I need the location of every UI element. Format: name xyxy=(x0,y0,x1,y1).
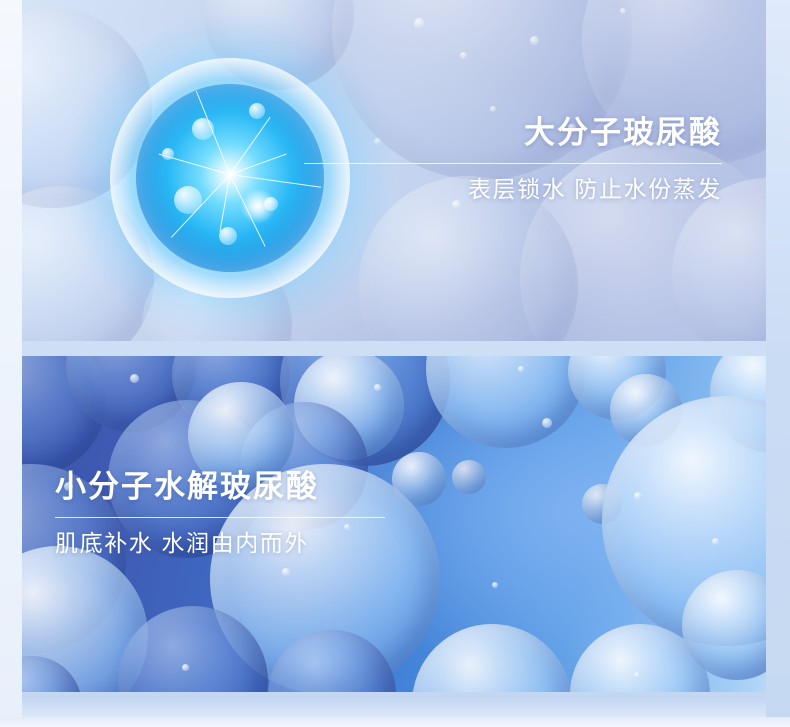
micro-bubble xyxy=(542,418,552,428)
micro-bubble xyxy=(282,568,290,576)
macro-divider xyxy=(304,163,722,164)
bottom-margin-strip xyxy=(0,717,790,727)
bubble-decoration xyxy=(452,460,486,494)
bubble-decoration xyxy=(412,624,572,692)
micro-bubble xyxy=(620,8,626,14)
micro-bubble xyxy=(490,106,496,112)
micro-divider xyxy=(55,517,385,518)
micro-subheading: 肌底补水 水润由内而外 xyxy=(55,530,385,556)
bubble-decoration xyxy=(426,356,586,448)
micro-text-block: 小分子水解玻尿酸 肌底补水 水润由内而外 xyxy=(55,470,385,557)
micro-bubble xyxy=(530,36,539,45)
macro-text-block: 大分子玻尿酸 表层锁水 防止水份蒸发 xyxy=(304,116,722,203)
micro-bubble xyxy=(712,538,719,545)
right-margin-strip xyxy=(766,0,790,727)
micro-bubble xyxy=(374,384,381,391)
micro-bubble xyxy=(634,672,640,678)
micro-bubble xyxy=(492,582,498,588)
micro-bubble xyxy=(634,492,642,500)
panel-macro-hyaluronic-acid: 大分子玻尿酸 表层锁水 防止水份蒸发 xyxy=(22,0,766,341)
macro-heading: 大分子玻尿酸 xyxy=(304,116,722,150)
left-margin-strip xyxy=(0,0,22,727)
micro-bubble xyxy=(414,18,425,29)
micro-bubble xyxy=(460,52,467,59)
micro-bubble xyxy=(518,366,524,372)
micro-heading: 小分子水解玻尿酸 xyxy=(55,470,385,504)
product-detail-page: 大分子玻尿酸 表层锁水 防止水份蒸发 xyxy=(0,0,790,727)
macro-subheading: 表层锁水 防止水份蒸发 xyxy=(304,176,722,202)
micro-bubble xyxy=(182,664,189,671)
micro-bubble xyxy=(130,374,139,383)
